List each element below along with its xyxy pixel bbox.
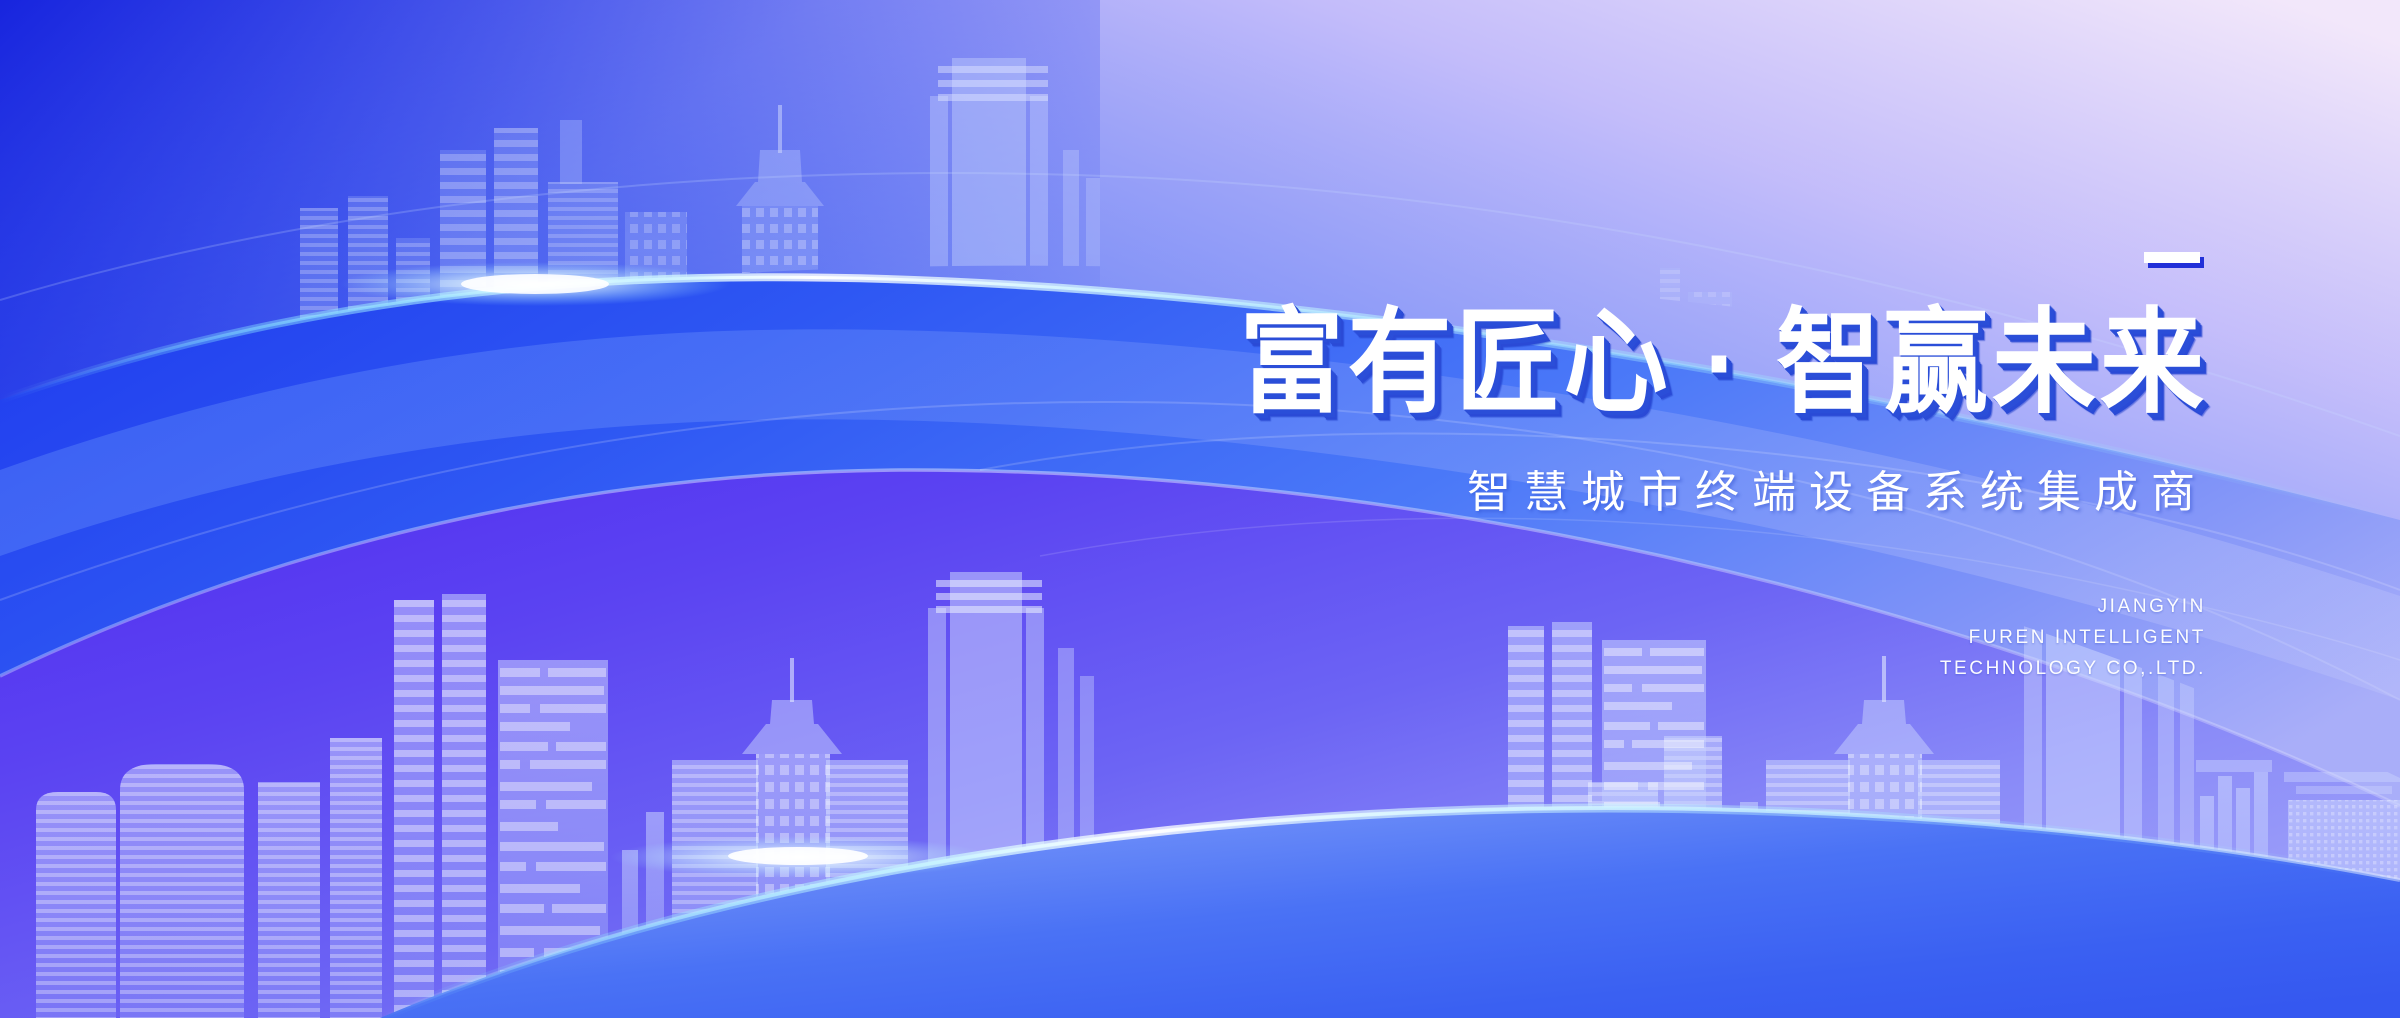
page-title: 富有匠心 · 智赢未来 xyxy=(1030,305,2210,422)
accent-dash-icon xyxy=(2144,252,2200,263)
company-name-english: JIANGYIN FUREN INTELLIGENT TECHNOLOGY CO… xyxy=(1030,592,2210,684)
company-line-2: FUREN INTELLIGENT xyxy=(1030,623,2206,654)
subtitle: 智慧城市终端设备系统集成商 xyxy=(1030,456,2210,520)
company-line-1: JIANGYIN xyxy=(1030,592,2206,623)
promo-banner: 富有匠心 · 智赢未来 智慧城市终端设备系统集成商 JIANGYIN FUREN… xyxy=(0,0,2400,1018)
headline-text-block: 富有匠心 · 智赢未来 智慧城市终端设备系统集成商 JIANGYIN FUREN… xyxy=(1030,252,2210,684)
company-line-3: TECHNOLOGY CO,.LTD. xyxy=(1030,654,2206,685)
